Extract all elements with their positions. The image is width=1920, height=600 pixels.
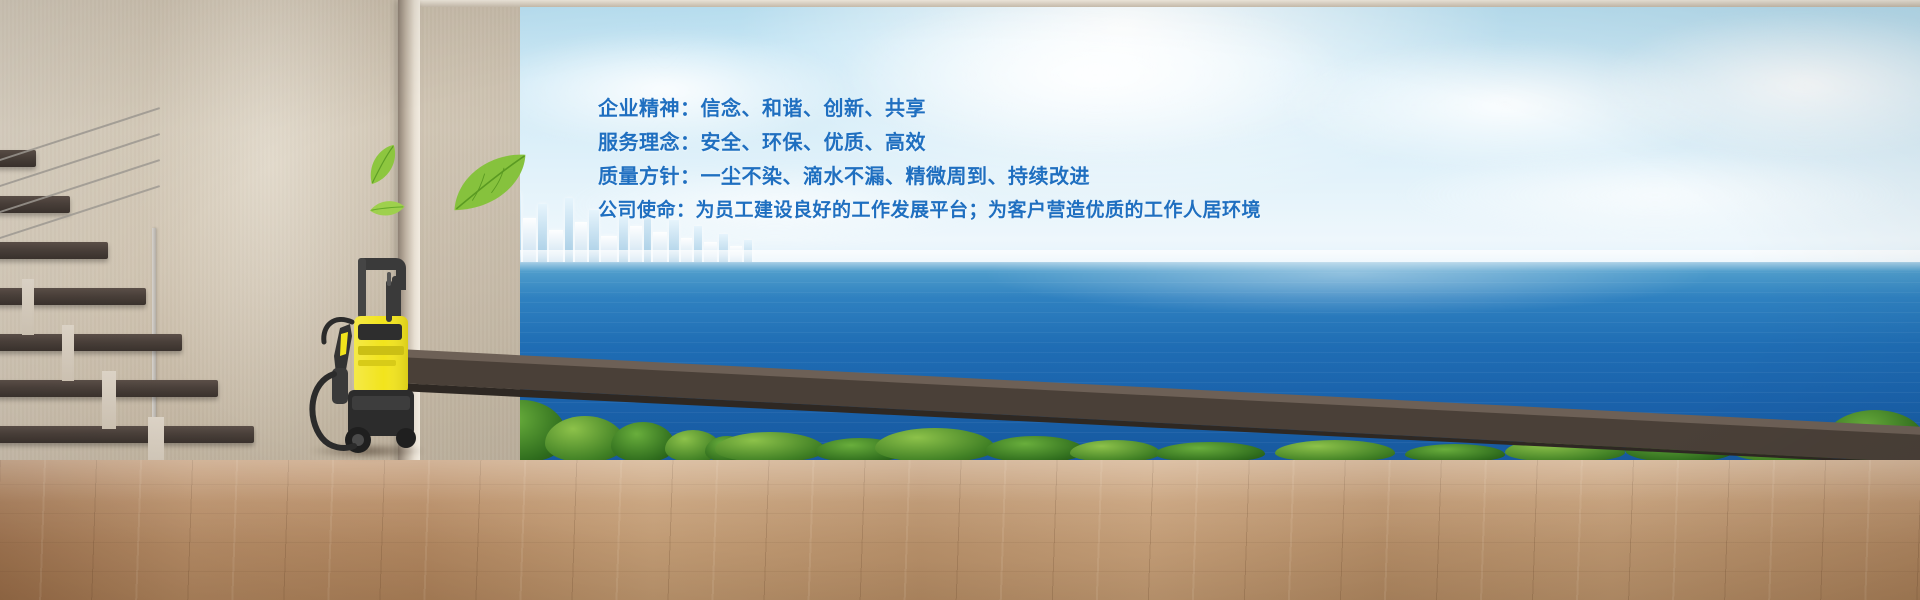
- greenery-strip: [415, 370, 1920, 462]
- mural-scene: [415, 0, 1920, 462]
- corporate-philosophy-banner: 企业精神：信念、和谐、创新、共享 服务理念：安全、环保、优质、高效 质量方针：一…: [0, 0, 1920, 600]
- mural-frame-top: [398, 0, 1920, 7]
- leaf-icon: [445, 149, 536, 216]
- philosophy-text-block: 企业精神：信念、和谐、创新、共享 服务理念：安全、环保、优质、高效 质量方针：一…: [598, 92, 1358, 228]
- cloud: [1395, 150, 1915, 240]
- staircase: [0, 150, 230, 480]
- philosophy-line-mission: 公司使命：为员工建设良好的工作发展平台；为客户营造优质的工作人居环境: [598, 194, 1358, 228]
- philosophy-line-service: 服务理念：安全、环保、优质、高效: [598, 126, 1358, 160]
- pressure-washer: [300, 250, 435, 465]
- hardwood-floor: [0, 460, 1920, 600]
- philosophy-line-quality: 质量方针：一尘不染、滴水不漏、精微周到、持续改进: [598, 160, 1358, 194]
- philosophy-line-spirit: 企业精神：信念、和谐、创新、共享: [598, 92, 1358, 126]
